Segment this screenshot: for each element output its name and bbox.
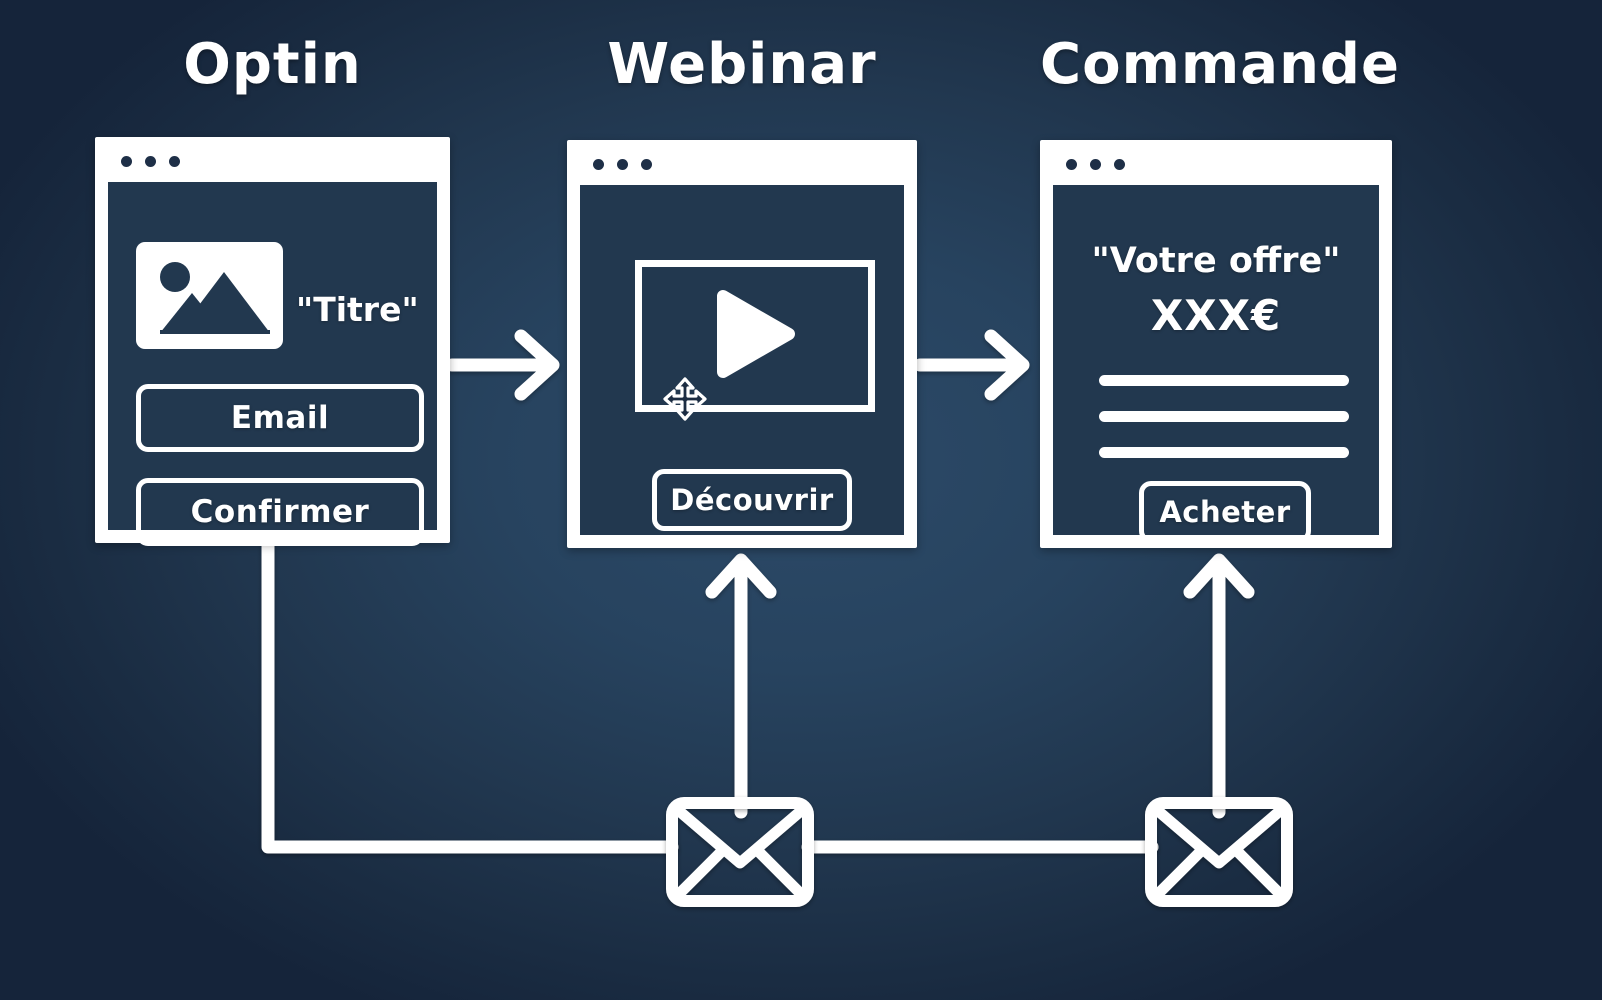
envelope-flap-icon <box>678 810 802 863</box>
window-titlebar <box>103 145 442 177</box>
window-content: "Titre" Email Confirmer <box>103 177 442 535</box>
browser-window-commande[interactable]: "Votre offre" XXX€ Acheter <box>1040 140 1392 548</box>
discover-button[interactable]: Découvrir <box>652 469 852 531</box>
arrow-email-2-to-commande <box>1190 560 1248 812</box>
window-dot-icon[interactable] <box>1066 159 1077 170</box>
window-dot-icon[interactable] <box>641 159 652 170</box>
envelope-flap-icon <box>1157 810 1281 863</box>
text-line-placeholder <box>1099 411 1349 422</box>
envelope-icon <box>1151 803 1287 901</box>
window-content: Découvrir <box>575 180 909 540</box>
window-dot-icon[interactable] <box>617 159 628 170</box>
window-titlebar <box>1048 148 1384 180</box>
envelope-icon <box>672 803 808 901</box>
window-titlebar <box>575 148 909 180</box>
arrow-optin-to-webinar <box>452 336 553 394</box>
window-dot-icon[interactable] <box>121 156 132 167</box>
line-optin-to-email-1 <box>268 545 672 847</box>
window-dot-icon[interactable] <box>1090 159 1101 170</box>
browser-window-webinar[interactable]: Découvrir <box>567 140 917 548</box>
email-input[interactable]: Email <box>136 384 424 452</box>
window-dot-icon[interactable] <box>1114 159 1125 170</box>
column-title-optin: Optin <box>95 32 450 97</box>
buy-button[interactable]: Acheter <box>1139 481 1311 543</box>
envelope-fold-right-icon <box>757 850 802 895</box>
move-cursor-icon <box>663 377 707 421</box>
arrow-webinar-to-commande <box>920 336 1023 394</box>
browser-window-optin[interactable]: "Titre" Email Confirmer <box>95 137 450 543</box>
email-node-1[interactable] <box>672 803 808 901</box>
arrow-email-1-to-webinar <box>712 560 770 812</box>
email-node-2[interactable] <box>1151 803 1287 901</box>
window-content: "Votre offre" XXX€ Acheter <box>1048 180 1384 540</box>
envelope-fold-left-icon <box>678 850 723 895</box>
window-dot-icon[interactable] <box>169 156 180 167</box>
diagram-canvas: Optin Webinar Commande <box>0 0 1602 1000</box>
offer-headline: "Votre offre" <box>1053 241 1379 281</box>
envelope-fold-left-icon <box>1157 850 1202 895</box>
column-title-webinar: Webinar <box>567 32 917 97</box>
play-icon[interactable] <box>713 288 797 384</box>
offer-price: XXX€ <box>1053 291 1379 340</box>
image-placeholder-icon <box>136 242 283 349</box>
window-dot-icon[interactable] <box>145 156 156 167</box>
text-line-placeholder <box>1099 447 1349 458</box>
window-dot-icon[interactable] <box>593 159 604 170</box>
confirm-button[interactable]: Confirmer <box>136 478 424 546</box>
optin-headline: "Titre" <box>296 290 419 329</box>
column-title-commande: Commande <box>1040 32 1392 97</box>
text-line-placeholder <box>1099 375 1349 386</box>
envelope-fold-right-icon <box>1236 850 1281 895</box>
